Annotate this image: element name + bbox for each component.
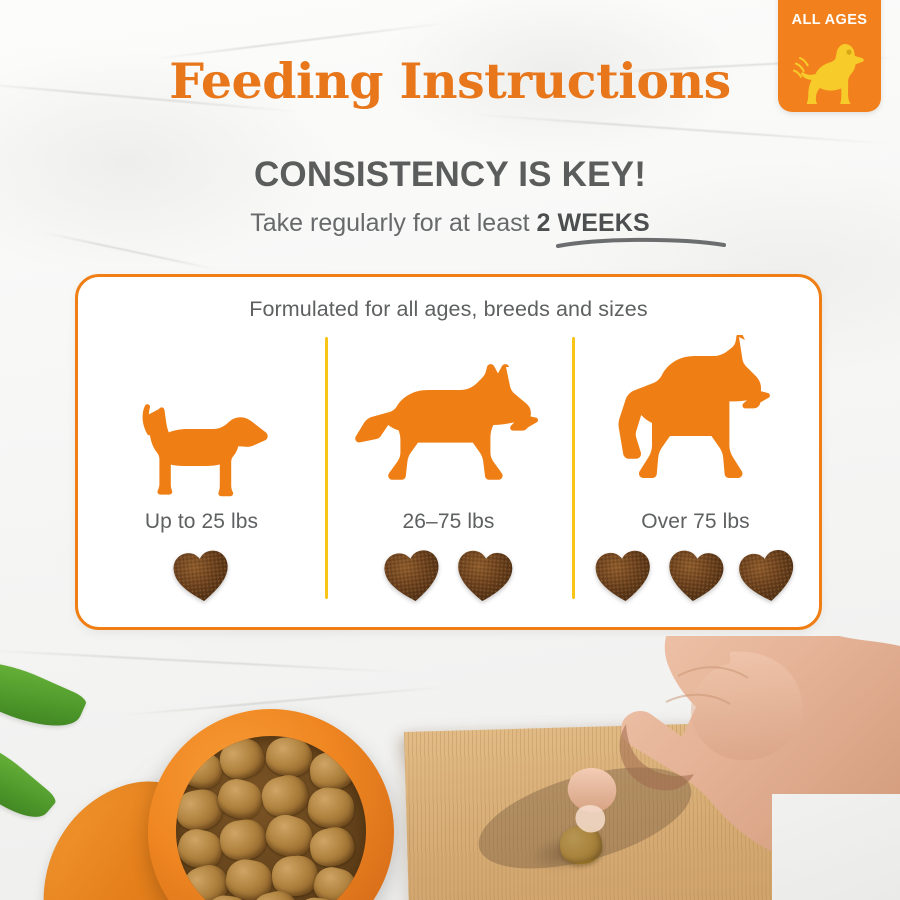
kibble-treat — [664, 547, 727, 605]
small-dog-slot — [78, 335, 325, 501]
all-ages-badge-label: ALL AGES — [778, 12, 881, 28]
large-dog-icon — [610, 335, 782, 501]
large-dog-slot — [572, 335, 819, 501]
size-column-large: Over 75 lbs — [572, 335, 819, 613]
size-column-small: Up to 25 lbs — [78, 335, 325, 613]
infographic-canvas: Feeding Instructions ALL AGES CONSISTENC… — [0, 0, 900, 900]
tagline: Take regularly for at least 2 WEEKS — [0, 209, 900, 238]
kibble-treat — [736, 547, 799, 605]
card-heading: Formulated for all ages, breeds and size… — [78, 297, 819, 322]
tagline-emphasis: 2 WEEKS — [537, 209, 650, 237]
small-dog-icon — [126, 393, 278, 501]
kibble-treat — [170, 547, 233, 605]
sitting-dog-icon — [793, 36, 867, 104]
subtitle: CONSISTENCY IS KEY! — [0, 155, 900, 195]
treats-large — [592, 547, 799, 605]
all-ages-badge: ALL AGES — [778, 0, 881, 112]
medium-dog-icon — [354, 361, 544, 501]
counter-corner — [772, 794, 900, 900]
feeding-chart-card: Formulated for all ages, breeds and size… — [75, 274, 822, 630]
size-columns: Up to 25 lbs — [78, 335, 819, 613]
container-opening — [176, 736, 366, 900]
size-label-medium: 26–75 lbs — [403, 510, 495, 534]
medium-dog-slot — [325, 335, 572, 501]
page-title: Feeding Instructions — [0, 52, 900, 110]
kibble-treat — [381, 547, 444, 605]
green-leaf — [0, 723, 58, 833]
kibble-treat — [592, 547, 655, 605]
tagline-prefix: Take regularly for at least — [250, 209, 536, 237]
tagline-underline — [556, 235, 726, 249]
treats-small — [170, 547, 233, 605]
size-label-small: Up to 25 lbs — [145, 510, 258, 534]
product-photo-scene — [0, 636, 900, 900]
size-column-medium: 26–75 lbs — [325, 335, 572, 613]
green-leaf — [0, 646, 88, 743]
treats-medium — [381, 547, 516, 605]
kibble-treat — [453, 547, 516, 605]
size-label-large: Over 75 lbs — [641, 510, 749, 534]
